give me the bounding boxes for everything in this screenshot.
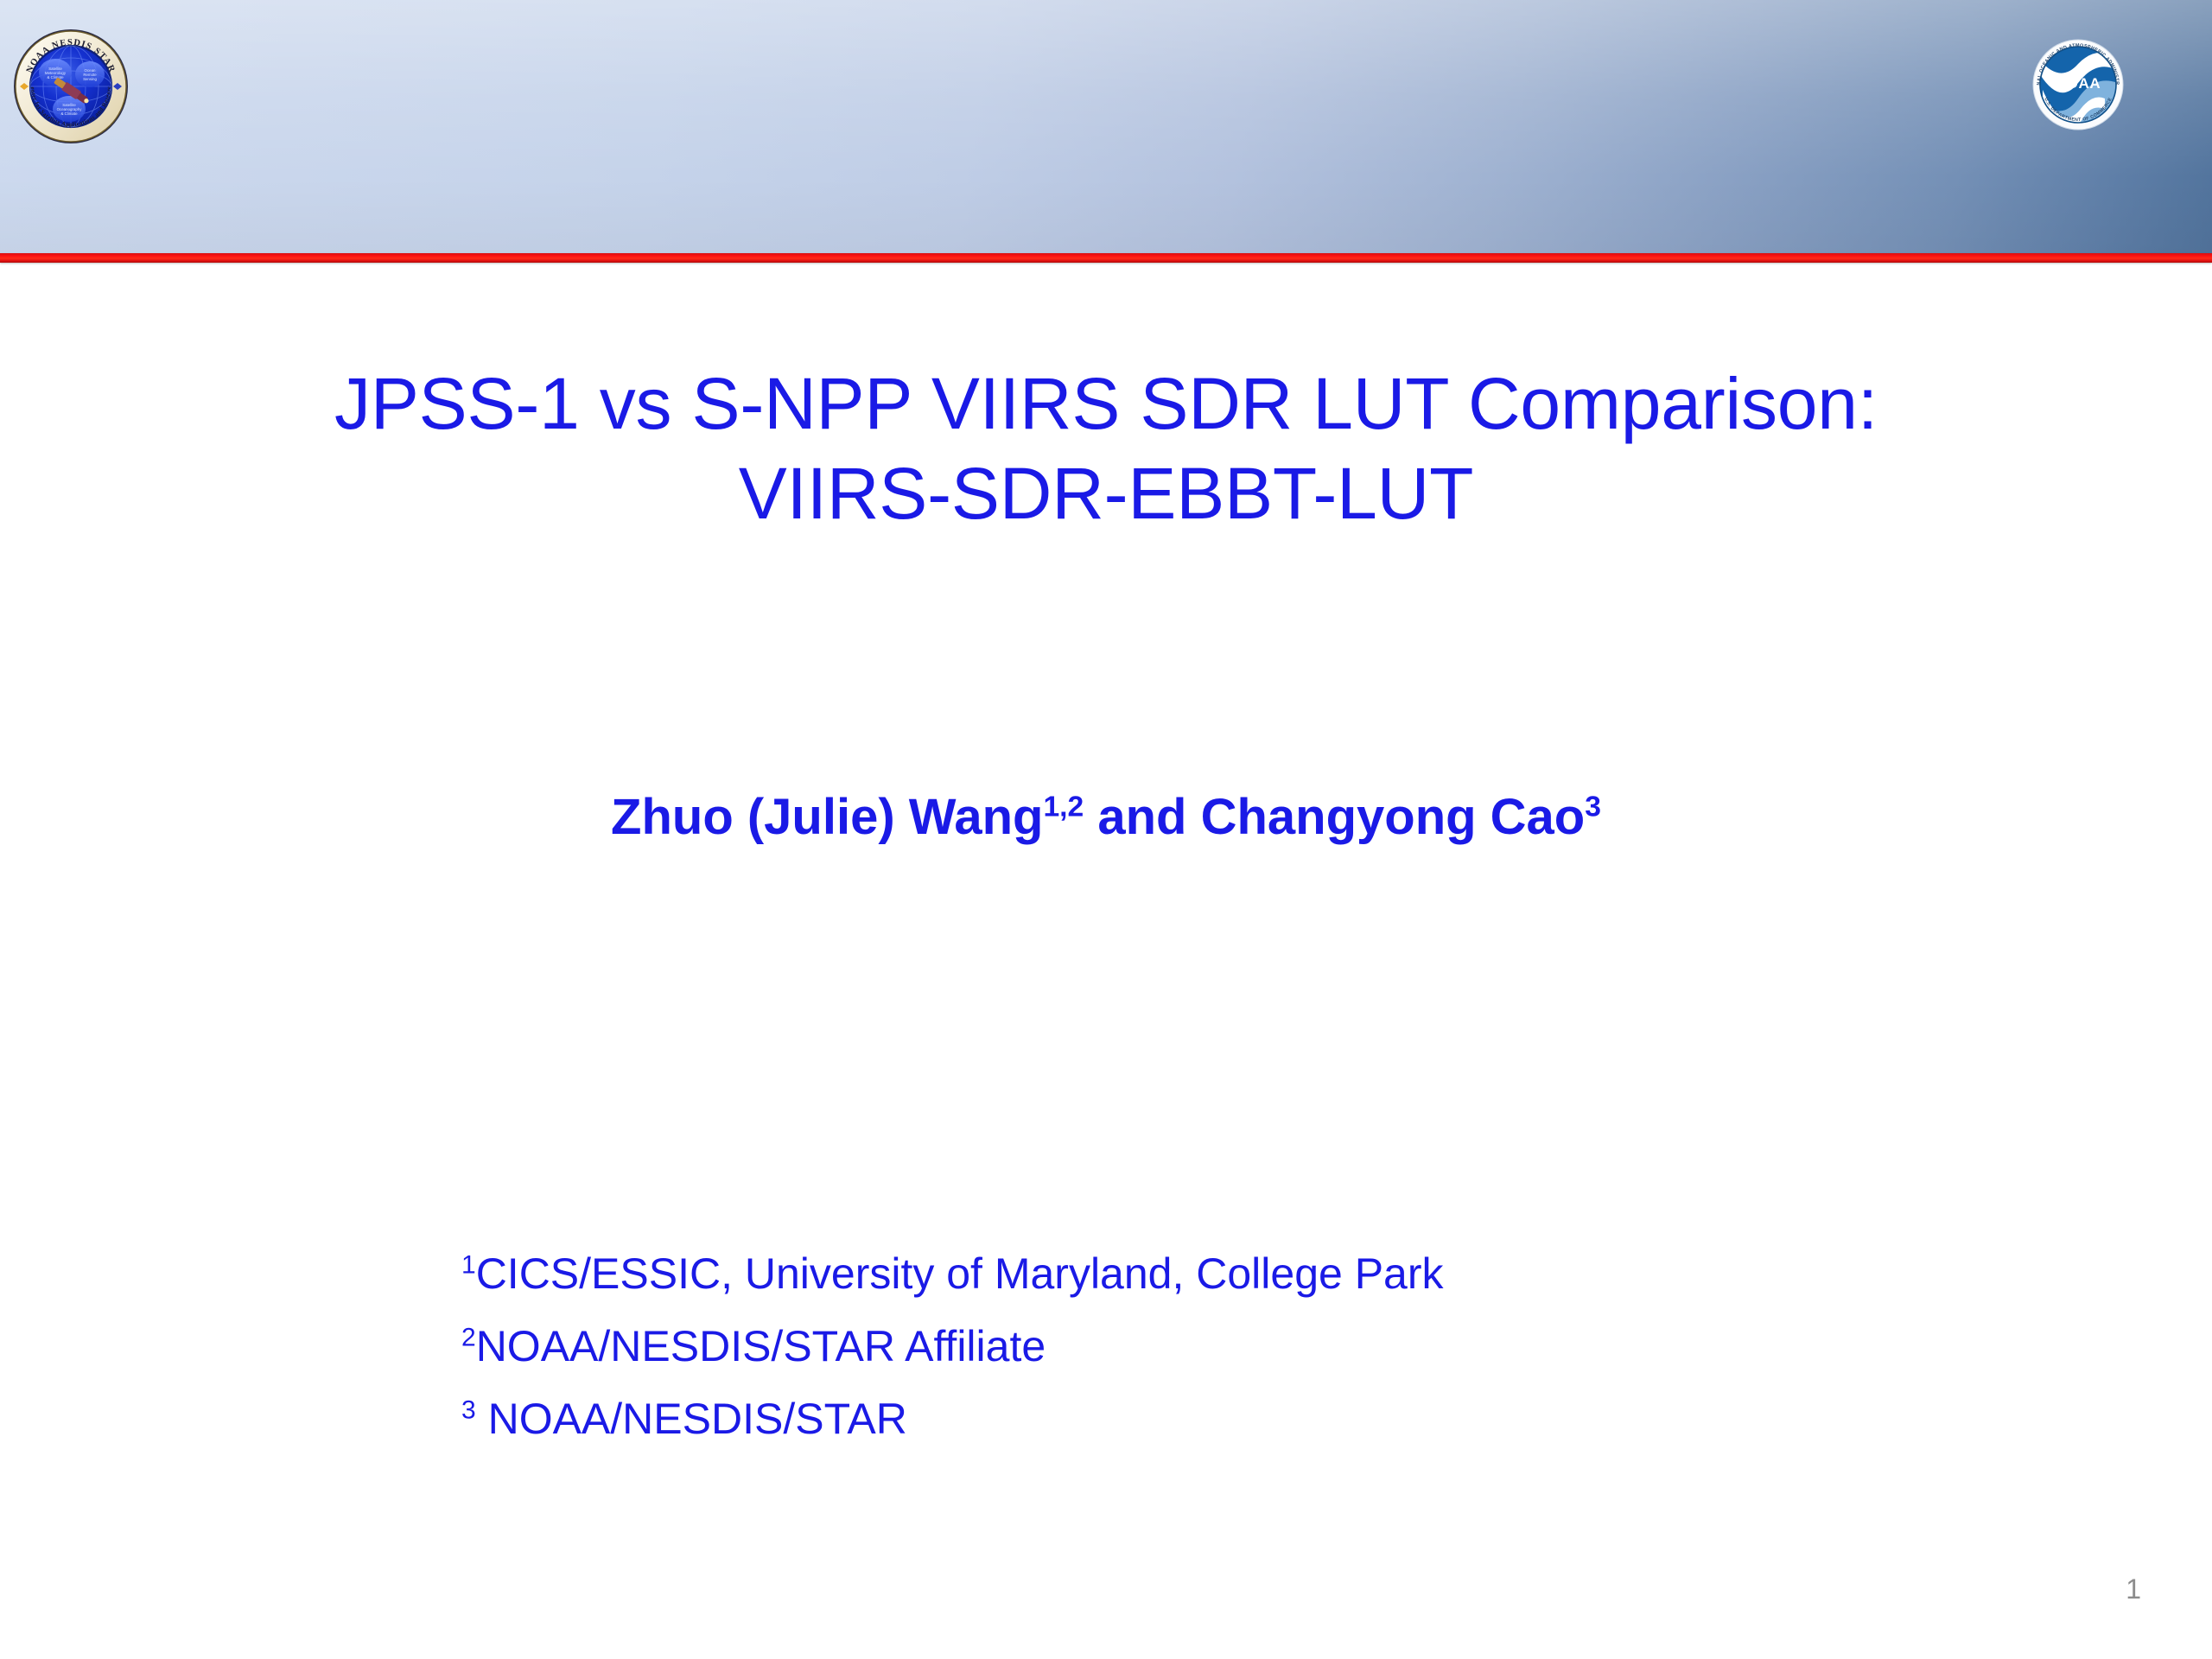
affiliation-text: CICS/ESSIC, University of Maryland, Coll… bbox=[476, 1249, 1444, 1298]
page-title: JPSS-1 vs S-NPP VIIRS SDR LUT Comparison… bbox=[156, 359, 2056, 538]
svg-text:& Climate: & Climate bbox=[60, 111, 78, 116]
svg-text:NOAA: NOAA bbox=[2056, 75, 2101, 92]
noaa-seal-logo: NOAA NATIONAL OCEANIC AND ATMOSPHERIC AD… bbox=[2032, 26, 2124, 143]
svg-text:Sensing: Sensing bbox=[83, 77, 97, 81]
affiliation-marker: 3 bbox=[461, 1395, 476, 1424]
noaa-nesdis-star-logo: Satellite Meteorology & Climate Ocean Re… bbox=[12, 28, 130, 145]
header-sheen-overlay bbox=[0, 0, 2212, 253]
svg-text:& Climate: & Climate bbox=[47, 75, 64, 79]
affiliation-text: NOAA/NESDIS/STAR Affiliate bbox=[476, 1322, 1046, 1370]
title-line-1: JPSS-1 vs S-NPP VIIRS SDR LUT Comparison… bbox=[156, 359, 2056, 448]
title-slide: Satellite Meteorology & Climate Ocean Re… bbox=[0, 0, 2212, 1659]
slide-body: JPSS-1 vs S-NPP VIIRS SDR LUT Comparison… bbox=[0, 262, 2212, 1659]
affiliation-text: NOAA/NESDIS/STAR bbox=[476, 1395, 907, 1443]
slide-header-band: Satellite Meteorology & Climate Ocean Re… bbox=[0, 0, 2212, 253]
author-sup-2: 3 bbox=[1585, 791, 1601, 823]
affiliation-list: 1CICS/ESSIC, University of Maryland, Col… bbox=[461, 1252, 2017, 1440]
affiliation-item: 2NOAA/NESDIS/STAR Affiliate bbox=[461, 1325, 2017, 1368]
author-conjunction: and bbox=[1084, 789, 1200, 845]
affiliation-marker: 2 bbox=[461, 1323, 476, 1351]
author-sup-1: 1,2 bbox=[1043, 791, 1084, 823]
affiliation-item: 3 NOAA/NESDIS/STAR bbox=[461, 1397, 2017, 1440]
affiliation-marker: 1 bbox=[461, 1250, 476, 1279]
author-name-2: Changyong Cao bbox=[1201, 789, 1586, 845]
title-line-2: VIIRS-SDR-EBBT-LUT bbox=[156, 448, 2056, 538]
page-number: 1 bbox=[2126, 1573, 2141, 1605]
author-line: Zhuo (Julie) Wang1,2 and Changyong Cao3 bbox=[156, 787, 2056, 848]
author-name-1: Zhuo (Julie) Wang bbox=[611, 789, 1043, 845]
affiliation-item: 1CICS/ESSIC, University of Maryland, Col… bbox=[461, 1252, 2017, 1295]
